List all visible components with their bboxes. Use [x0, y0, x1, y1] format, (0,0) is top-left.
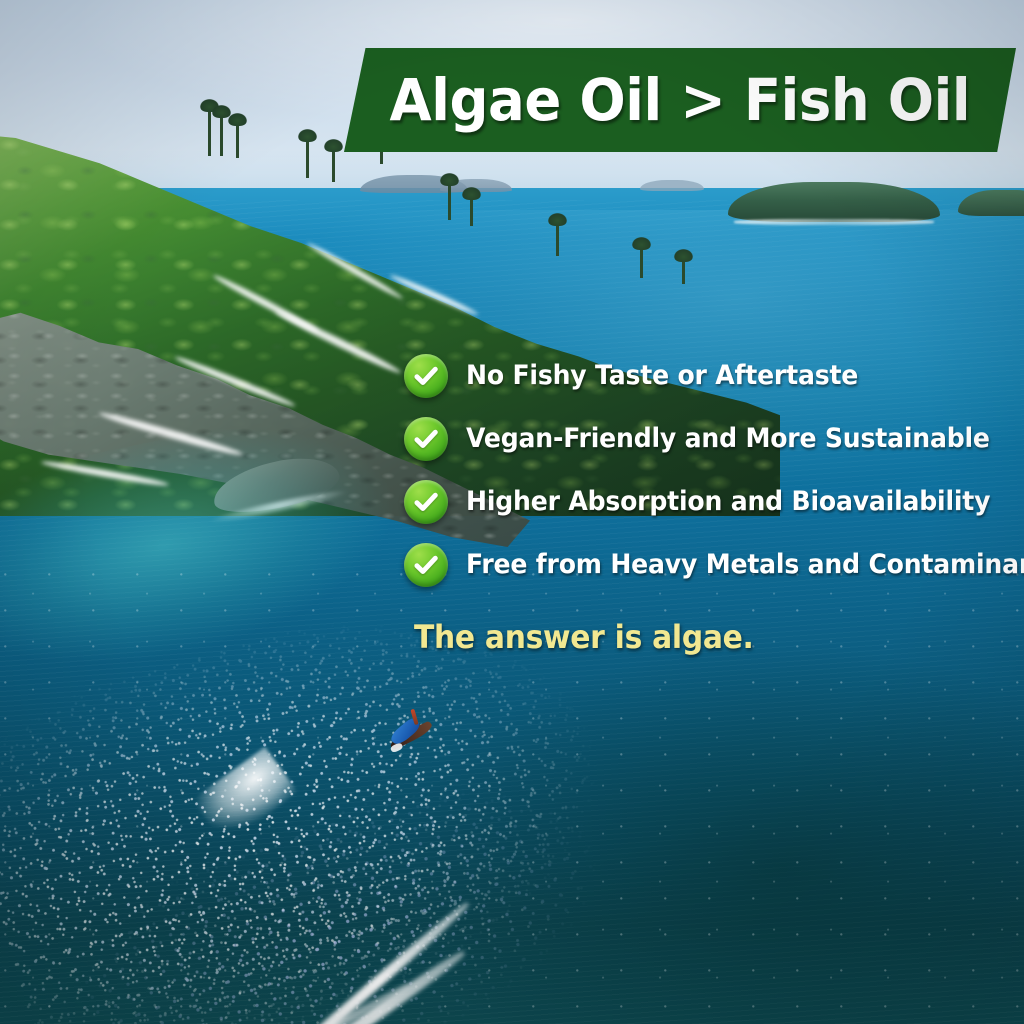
check-mark-icon [404, 480, 448, 524]
benefit-label: Higher Absorption and Bioavailability [466, 486, 990, 517]
palm-tree-icon [448, 182, 451, 220]
palm-tree-icon [220, 114, 223, 156]
palm-tree-icon [640, 246, 643, 278]
benefit-label: Free from Heavy Metals and Contaminants [466, 549, 1024, 580]
benefit-item: Free from Heavy Metals and Contaminants [404, 533, 1014, 596]
palm-tree-icon [208, 108, 211, 156]
check-mark-icon [404, 543, 448, 587]
palm-tree-icon [306, 138, 309, 178]
palm-tree-icon [682, 258, 685, 284]
poster-canvas: Algae Oil > Fish Oil No Fishy Taste or A… [0, 0, 1024, 1024]
palm-tree-icon [470, 196, 473, 226]
check-mark-icon [404, 354, 448, 398]
check-mark-icon [404, 417, 448, 461]
wake-trail [246, 899, 472, 1024]
benefits-list: No Fishy Taste or Aftertaste Vegan-Frien… [404, 344, 1014, 596]
palm-tree-icon [332, 148, 335, 182]
palm-tree-icon [236, 122, 239, 158]
benefit-label: No Fishy Taste or Aftertaste [466, 360, 858, 391]
benefit-item: No Fishy Taste or Aftertaste [404, 344, 1014, 407]
tagline-text: The answer is algae. [414, 618, 754, 656]
headline-banner: Algae Oil > Fish Oil [344, 48, 1016, 152]
benefit-item: Higher Absorption and Bioavailability [404, 470, 1014, 533]
palm-tree-icon [556, 222, 559, 256]
benefit-item: Vegan-Friendly and More Sustainable [404, 407, 1014, 470]
headline-text: Algae Oil > Fish Oil [390, 66, 971, 134]
benefit-label: Vegan-Friendly and More Sustainable [466, 423, 990, 454]
